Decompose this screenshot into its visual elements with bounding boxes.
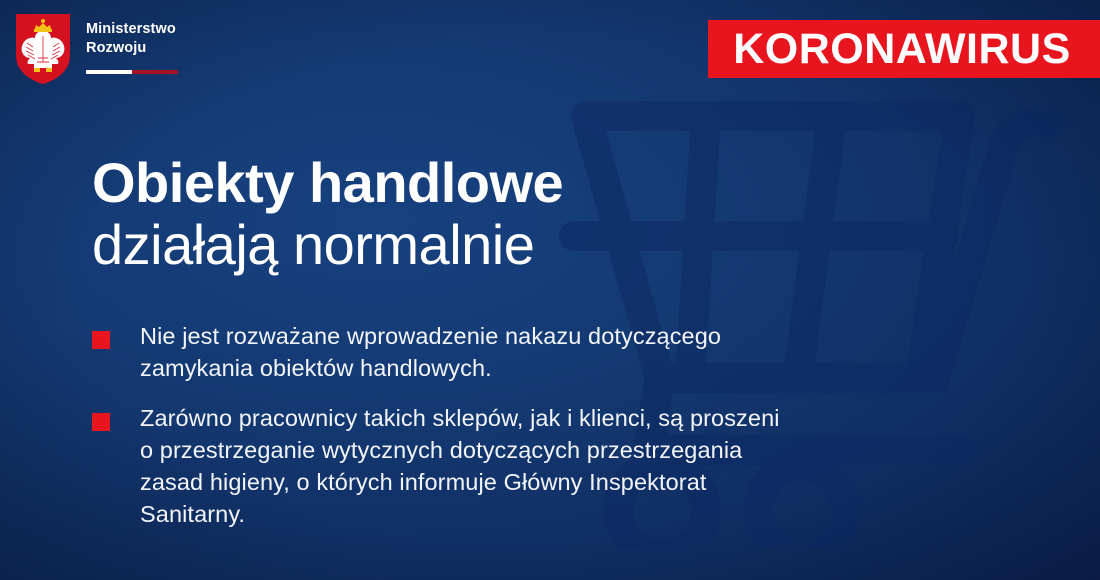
brand-header: Ministerstwo Rozwoju bbox=[14, 12, 178, 86]
polish-coat-of-arms-icon bbox=[14, 12, 72, 86]
bullet-square-icon bbox=[92, 413, 110, 431]
page-title: Obiekty handlowe działają normalnie bbox=[92, 152, 712, 276]
ministry-divider-bar bbox=[86, 70, 178, 74]
koronawirus-label: KORONAWIRUS bbox=[733, 28, 1075, 71]
divider-red-half bbox=[132, 70, 178, 74]
bullet-text: Nie jest rozważane wprowadzenie nakazu d… bbox=[140, 320, 792, 384]
headline-line-1: Obiekty handlowe bbox=[92, 152, 712, 214]
bullet-square-icon bbox=[92, 331, 110, 349]
headline-line-2: działają normalnie bbox=[92, 214, 712, 276]
ministry-line-1: Ministerstwo bbox=[86, 20, 178, 39]
poster: Ministerstwo Rozwoju KORONAWIRUS Obiekty… bbox=[0, 0, 1100, 580]
bullet-text: Zarówno pracownicy takich sklepów, jak i… bbox=[140, 402, 792, 530]
divider-white-half bbox=[86, 70, 132, 74]
list-item: Zarówno pracownicy takich sklepów, jak i… bbox=[92, 402, 792, 530]
ministry-line-2: Rozwoju bbox=[86, 39, 178, 58]
list-item: Nie jest rozważane wprowadzenie nakazu d… bbox=[92, 320, 792, 384]
ministry-wordmark: Ministerstwo Rozwoju bbox=[86, 12, 178, 74]
koronawirus-banner: KORONAWIRUS bbox=[708, 20, 1100, 78]
bullet-list: Nie jest rozważane wprowadzenie nakazu d… bbox=[92, 320, 792, 548]
